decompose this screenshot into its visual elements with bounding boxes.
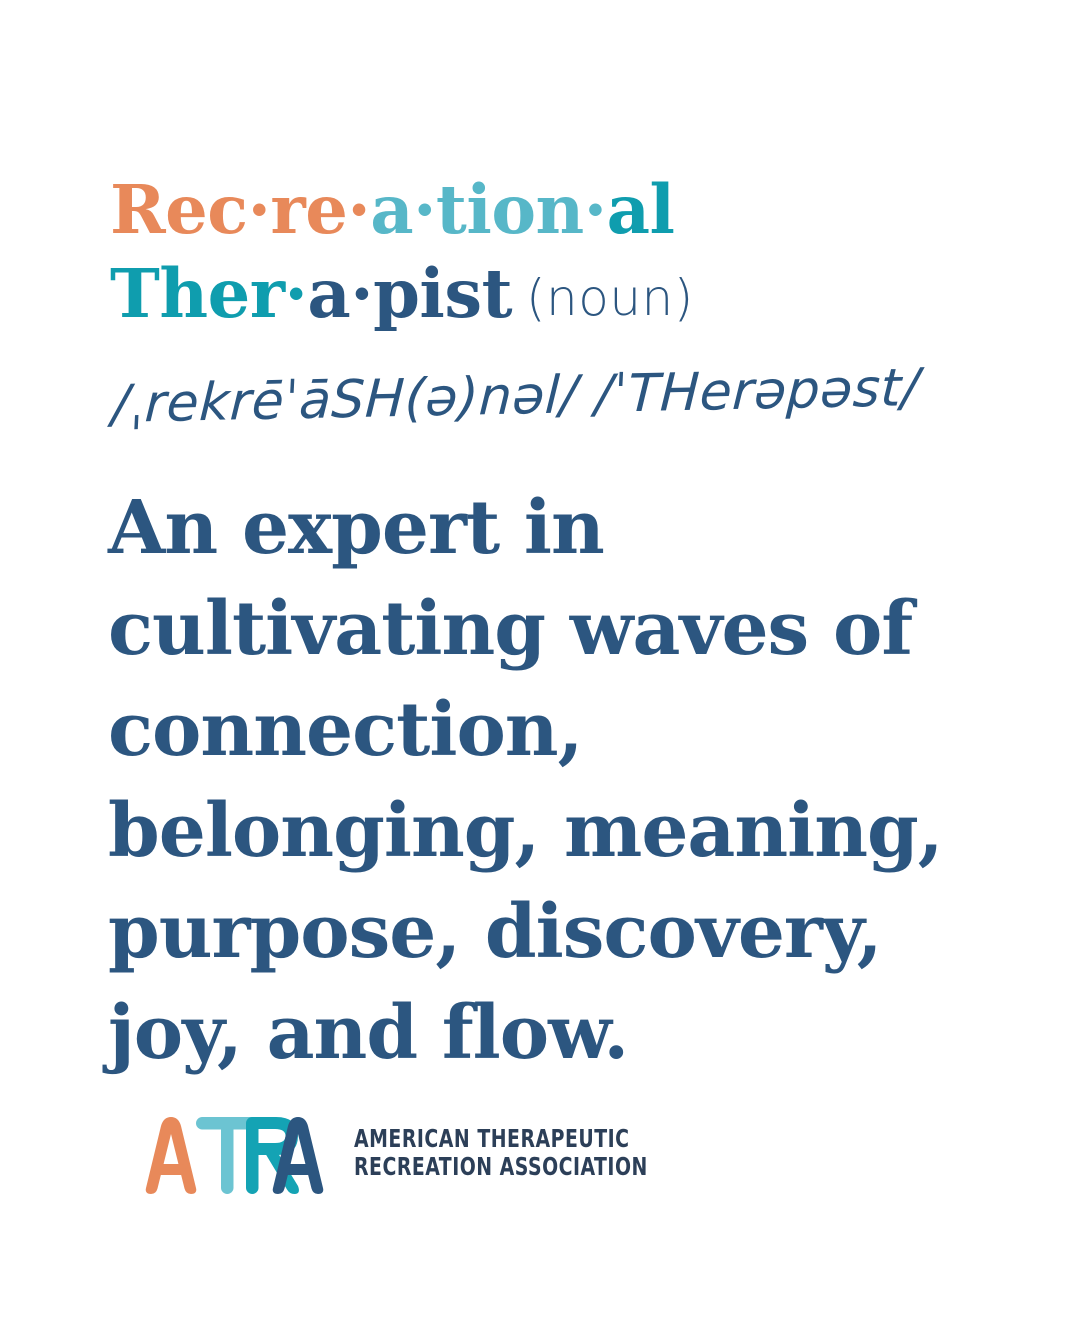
part-of-speech-label: (noun) xyxy=(526,269,694,327)
definition-line: joy, and flow. xyxy=(108,983,978,1084)
pronunciation-text: /ˌrekrēˈāSH(ə)nəl/ /ˈTHerəpəst/ xyxy=(110,357,921,436)
definition-line: belonging, meaning, xyxy=(108,781,978,882)
headword-segment-a-tion: a·tion· xyxy=(370,170,606,249)
headword-segment-ther: Ther· xyxy=(110,254,307,333)
headword-segment-rec-re: Rec·re· xyxy=(110,170,370,249)
definition-line: connection, xyxy=(108,680,978,781)
headword-block: Rec·re·a·tion·al Ther·a·pist(noun) xyxy=(110,168,1010,340)
logo-tagline-line-1: AMERICAN THERAPEUTIC xyxy=(354,1125,648,1153)
definition-line: cultivating waves of xyxy=(108,579,978,680)
atra-logo: AMERICAN THERAPEUTIC RECREATION ASSOCIAT… xyxy=(116,1112,704,1194)
poster-canvas: Rec·re·a·tion·al Ther·a·pist(noun) /ˌrek… xyxy=(0,0,1072,1340)
headword-segment-apist: a·pist xyxy=(307,254,512,333)
definition-line: An expert in xyxy=(108,478,978,579)
definition-line: purpose, discovery, xyxy=(108,882,978,983)
logo-tagline: AMERICAN THERAPEUTIC RECREATION ASSOCIAT… xyxy=(354,1125,704,1181)
definition-block: An expert in cultivating waves of connec… xyxy=(108,478,978,1084)
headword-line-1: Rec·re·a·tion·al xyxy=(110,168,1010,252)
headword-line-2: Ther·a·pist(noun) xyxy=(110,252,1010,340)
headword-segment-al: al xyxy=(607,170,675,249)
atra-wordmark-icon xyxy=(116,1112,340,1194)
logo-tagline-line-2: RECREATION ASSOCIATION xyxy=(354,1153,648,1181)
